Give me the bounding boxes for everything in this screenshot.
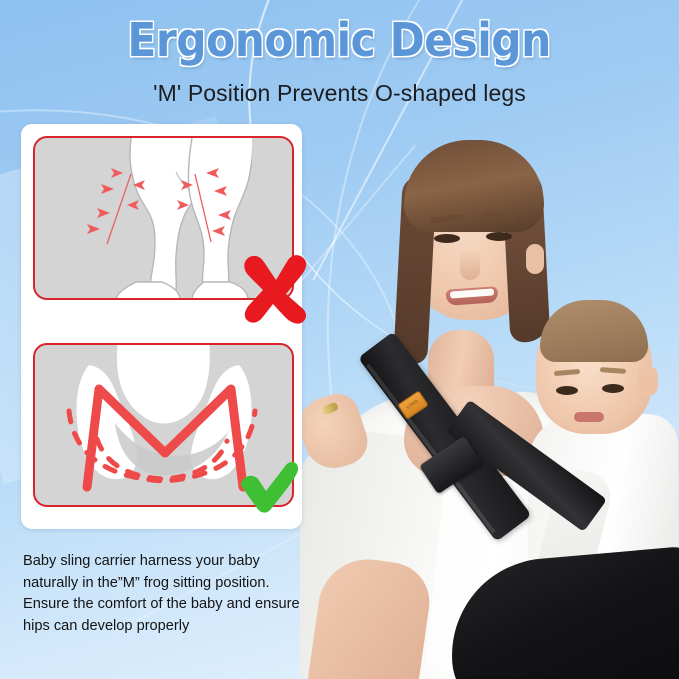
page-subtitle: 'M' Position Prevents O-shaped legs [0, 78, 679, 108]
baby-hair [540, 300, 648, 362]
panel-incorrect-posture [33, 136, 294, 300]
mother-eye-left [434, 234, 460, 243]
mother-eye-right [486, 232, 512, 241]
mother-hair-top [404, 140, 544, 232]
headline-container: Ergonomic Design [0, 14, 679, 66]
comparison-card [21, 124, 302, 529]
baby-mouth [574, 412, 604, 422]
baby-eye-right [602, 384, 624, 393]
page-title: Ergonomic Design [128, 14, 551, 66]
mother-nose [460, 250, 480, 280]
mother-ear [526, 244, 544, 274]
green-check-mark-icon [238, 461, 300, 517]
red-x-mark-icon [236, 248, 312, 324]
panel-correct-posture [33, 343, 294, 507]
baby-eye-left [556, 386, 578, 395]
product-feature-poster: LOGO Ergonomic Design 'M' Position Preve… [0, 0, 679, 679]
product-description-caption: Baby sling carrier harness your baby nat… [23, 551, 313, 637]
baby-ear [638, 366, 658, 396]
